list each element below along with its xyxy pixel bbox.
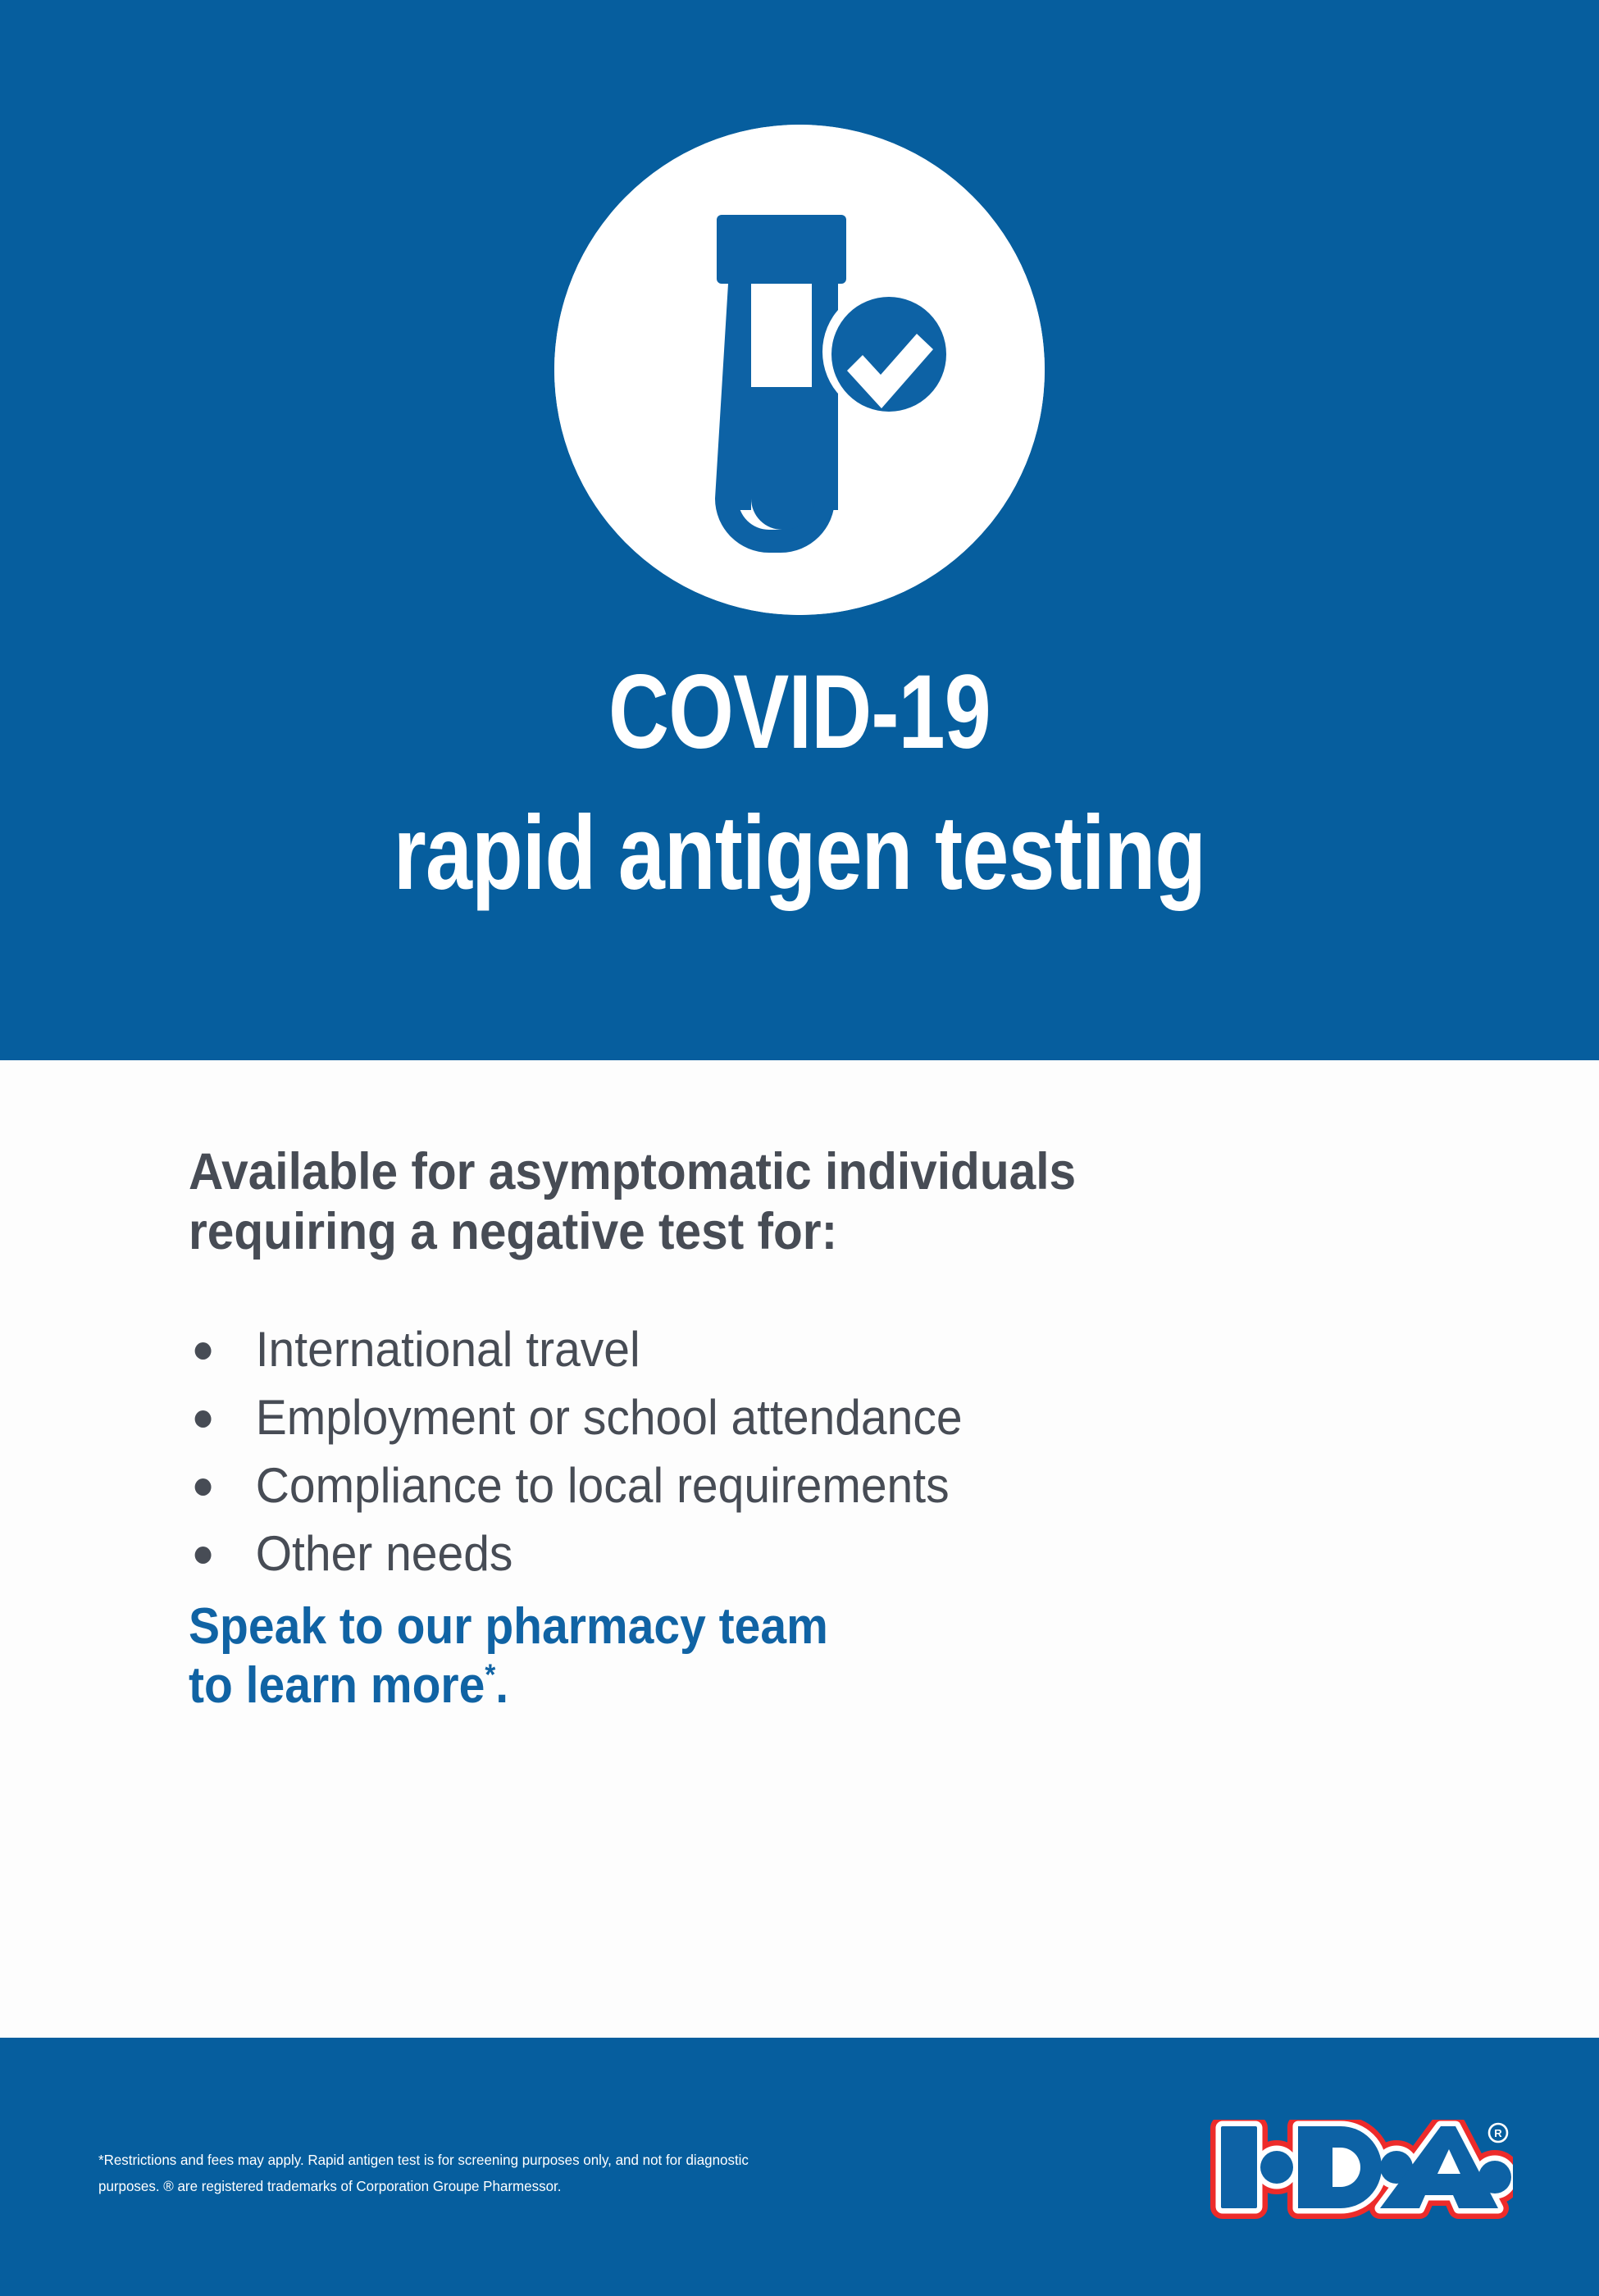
cta-line-2-period: . — [495, 1657, 508, 1714]
footnote-marker: * — [485, 1657, 495, 1691]
disclaimer-line-2: purposes. ® are registered trademarks of… — [98, 2173, 918, 2199]
cta-line-2: to learn more*. — [189, 1656, 1245, 1715]
eligibility-list: International travel Employment or schoo… — [189, 1323, 1501, 1595]
test-tube-check-icon — [554, 125, 1045, 615]
list-item: Compliance to local requirements — [189, 1459, 1435, 1512]
ida-logo: R — [1209, 2120, 1513, 2222]
list-item: Other needs — [189, 1527, 1435, 1580]
call-to-action: Speak to our pharmacy team to learn more… — [189, 1597, 1245, 1715]
title-line-1: COVID-19 — [160, 660, 1439, 765]
cta-line-1: Speak to our pharmacy team — [189, 1597, 1245, 1656]
title-line-2: rapid antigen testing — [160, 801, 1439, 906]
bullet-dot-icon — [195, 1342, 212, 1360]
disclaimer-line-1: *Restrictions and fees may apply. Rapid … — [98, 2147, 918, 2173]
list-item-label: Employment or school attendance — [256, 1390, 963, 1445]
list-item-label: International travel — [256, 1322, 640, 1377]
cta-line-2-text: to learn more — [189, 1657, 485, 1714]
bullet-dot-icon — [195, 1547, 212, 1564]
list-item: Employment or school attendance — [189, 1391, 1435, 1444]
body-section: Available for asymptomatic individuals r… — [0, 1060, 1599, 2038]
poster-root: COVID-19 rapid antigen testing Available… — [0, 0, 1599, 2296]
lede-line-2: requiring a negative test for: — [189, 1202, 1378, 1262]
disclaimer-text: *Restrictions and fees may apply. Rapid … — [98, 2147, 918, 2199]
registered-mark-icon: R — [1489, 2124, 1507, 2142]
footer-band: *Restrictions and fees may apply. Rapid … — [0, 2038, 1599, 2296]
header-band: COVID-19 rapid antigen testing — [0, 0, 1599, 1060]
lede-heading: Available for asymptomatic individuals r… — [189, 1142, 1378, 1262]
lede-line-1: Available for asymptomatic individuals — [189, 1142, 1378, 1202]
bullet-dot-icon — [195, 1478, 212, 1496]
page-title: COVID-19 rapid antigen testing — [0, 660, 1599, 906]
svg-text:R: R — [1494, 2127, 1502, 2139]
list-item-label: Other needs — [256, 1526, 513, 1581]
bullet-dot-icon — [195, 1410, 212, 1428]
list-item-label: Compliance to local requirements — [256, 1458, 950, 1513]
list-item: International travel — [189, 1323, 1435, 1376]
